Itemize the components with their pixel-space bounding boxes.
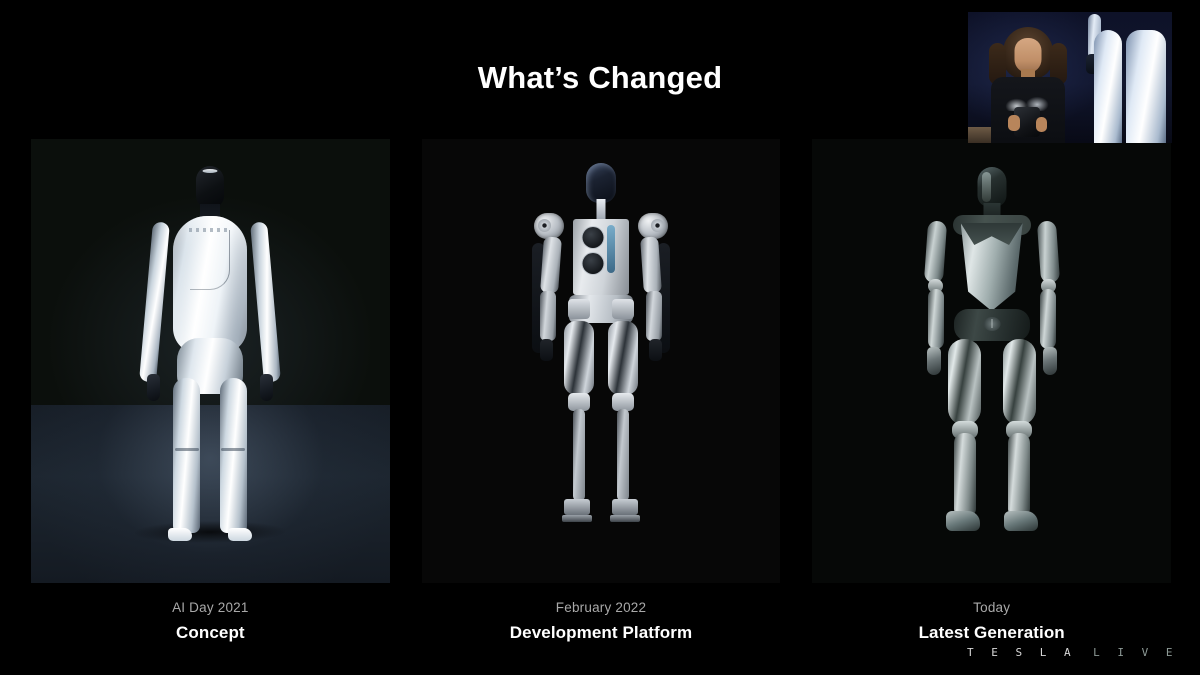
- presenter-face: [1015, 38, 1042, 73]
- robot-leg-right: [220, 378, 247, 533]
- robot-fan-upper: [583, 227, 604, 248]
- slide-canvas: What’s Changed: [0, 0, 1200, 675]
- broadcast-watermark: T E S L A L I V E: [967, 646, 1178, 659]
- robot-leg-left: [173, 378, 200, 533]
- robot-hand-right: [260, 374, 273, 401]
- caption-name: Concept: [31, 620, 390, 646]
- tesla-emblem-icon: [983, 317, 1000, 331]
- panel-concept-image[interactable]: [31, 139, 390, 583]
- robot-upper-arm-right: [640, 236, 662, 293]
- presenter-hand-right: [1036, 117, 1047, 132]
- panel-latest-generation-image[interactable]: [812, 139, 1171, 583]
- robot-shin-left: [954, 433, 976, 515]
- caption-latest-generation: Today Latest Generation: [812, 598, 1171, 645]
- robot-hand-left: [927, 347, 941, 375]
- robot-shin-right: [617, 409, 629, 501]
- robot-foot-left: [564, 499, 590, 515]
- panel-development-platform-image[interactable]: [422, 139, 781, 583]
- robot-thigh-right: [1003, 339, 1036, 425]
- tesla-wordmark: T E S L A: [967, 646, 1076, 659]
- robot-sole-right: [610, 515, 640, 522]
- robot-foot-left: [946, 511, 980, 531]
- caption-concept: AI Day 2021 Concept: [31, 598, 390, 645]
- robot-foot-left: [168, 528, 192, 541]
- projected-robot-leg-right: [1126, 30, 1166, 143]
- development-robot-figure: [528, 163, 674, 565]
- robot-actuator-disc-right: [651, 219, 664, 232]
- caption-date: AI Day 2021: [31, 598, 390, 618]
- caption-name: Development Platform: [422, 620, 781, 646]
- robot-head: [586, 163, 616, 203]
- robot-thigh-right: [608, 321, 638, 395]
- concept-robot-figure: [135, 166, 285, 561]
- robot-hand-left: [540, 339, 553, 361]
- caption-date: February 2022: [422, 598, 781, 618]
- caption-development-platform: February 2022 Development Platform: [422, 598, 781, 645]
- live-wordmark: L I V E: [1093, 646, 1178, 659]
- robot-arm-left: [139, 222, 170, 383]
- panel-row: [31, 139, 1171, 583]
- robot-knee-right: [221, 448, 245, 451]
- caption-date: Today: [812, 598, 1171, 618]
- robot-forearm-left: [928, 289, 944, 349]
- robot-hand-left: [147, 374, 160, 401]
- robot-forearm-left: [540, 291, 556, 341]
- robot-knee-left: [175, 448, 199, 451]
- robot-visor: [982, 172, 991, 202]
- robot-arm-right: [250, 222, 281, 383]
- caption-row: AI Day 2021 Concept February 2022 Develo…: [31, 598, 1171, 645]
- robot-upper-arm-left: [540, 236, 562, 293]
- robot-hip-left: [568, 299, 590, 319]
- robot-thigh-left: [564, 321, 594, 395]
- robot-upper-arm-right: [1037, 220, 1060, 283]
- robot-sole-left: [562, 515, 592, 522]
- robot-hand-right: [1043, 347, 1057, 375]
- projected-robot-image: [1088, 12, 1172, 143]
- robot-cable-bundle: [607, 225, 615, 273]
- robot-upper-arm-left: [924, 220, 947, 283]
- presenter-video-pip[interactable]: [968, 12, 1172, 143]
- robot-shin-right: [1008, 433, 1030, 515]
- robot-foot-right: [228, 528, 252, 541]
- robot-thigh-left: [948, 339, 981, 425]
- robot-shin-left: [573, 409, 585, 501]
- robot-visor: [203, 169, 218, 173]
- presenter-hand-left: [1008, 115, 1020, 131]
- robot-neck: [597, 199, 606, 221]
- robot-fan-lower: [583, 253, 604, 274]
- presenter-figure: [986, 21, 1070, 143]
- robot-hip-right: [612, 299, 634, 319]
- robot-foot-right: [1004, 511, 1038, 531]
- robot-forearm-right: [646, 291, 662, 341]
- robot-actuator-disc-left: [538, 219, 551, 232]
- projected-robot-leg-left: [1094, 30, 1122, 143]
- robot-panel-seam: [190, 230, 230, 290]
- latest-robot-figure: [916, 167, 1068, 559]
- caption-name: Latest Generation: [812, 620, 1171, 646]
- robot-hand-right: [649, 339, 662, 361]
- robot-forearm-right: [1040, 289, 1056, 349]
- robot-foot-right: [612, 499, 638, 515]
